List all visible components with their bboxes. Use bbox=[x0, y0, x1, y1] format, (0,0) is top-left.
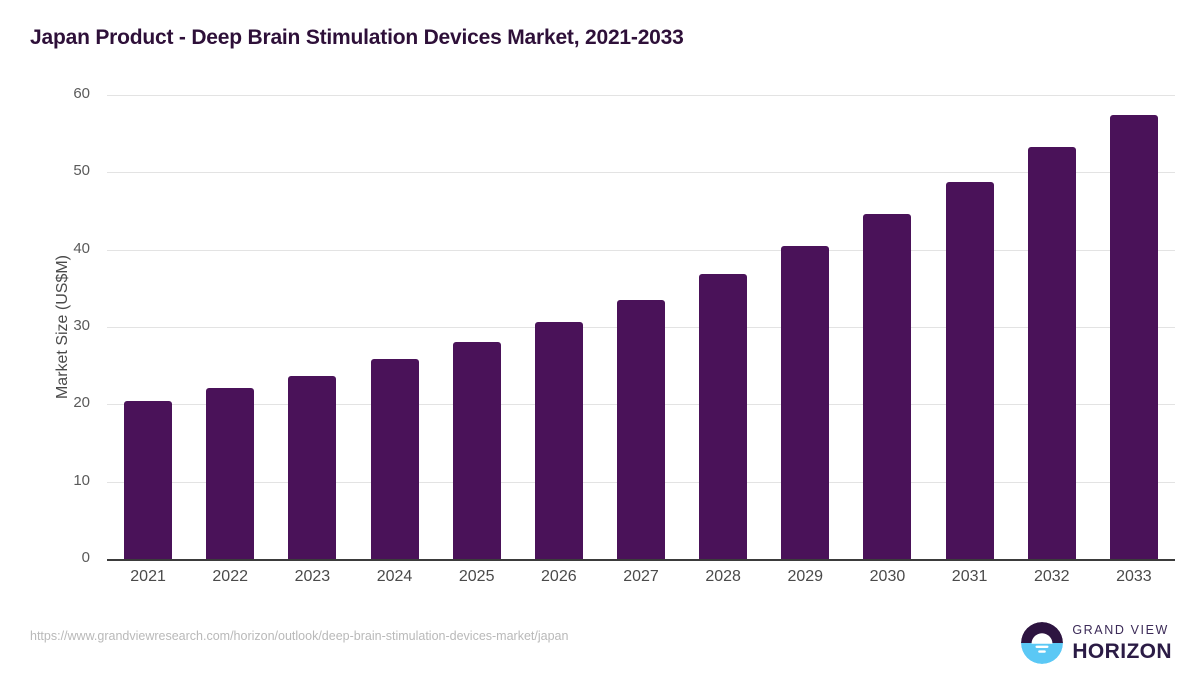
y-axis-tick-label: 50 bbox=[20, 162, 90, 179]
bar-2026[interactable] bbox=[535, 322, 583, 559]
x-axis-tick-label: 2030 bbox=[846, 568, 928, 586]
x-axis-tick-label: 2023 bbox=[271, 568, 353, 586]
x-axis-line bbox=[107, 559, 1175, 561]
x-axis-tick-label: 2026 bbox=[518, 568, 600, 586]
gridline bbox=[107, 95, 1175, 96]
y-axis-tick-label: 0 bbox=[20, 549, 90, 566]
bar-2033[interactable] bbox=[1110, 115, 1158, 559]
x-axis-tick-label: 2027 bbox=[600, 568, 682, 586]
x-axis-tick-label: 2024 bbox=[353, 568, 435, 586]
chart-plot-area: Market Size (US$M) 0102030405060 2021202… bbox=[0, 0, 1200, 675]
x-axis-tick-label: 2031 bbox=[929, 568, 1011, 586]
y-axis-tick-label: 40 bbox=[20, 240, 90, 257]
x-axis-tick-label: 2032 bbox=[1011, 568, 1093, 586]
x-axis-tick-label: 2022 bbox=[189, 568, 271, 586]
x-axis-tick-label: 2028 bbox=[682, 568, 764, 586]
source-url[interactable]: https://www.grandviewresearch.com/horizo… bbox=[30, 629, 568, 643]
logo-text-grand-view: GRAND VIEW bbox=[1072, 624, 1172, 637]
bar-2031[interactable] bbox=[946, 182, 994, 559]
y-axis-tick-label: 20 bbox=[20, 394, 90, 411]
bar-2022[interactable] bbox=[206, 388, 254, 559]
bar-2024[interactable] bbox=[371, 359, 419, 559]
bar-2028[interactable] bbox=[699, 274, 747, 559]
logo-wordmark: GRAND VIEW HORIZON bbox=[1072, 624, 1172, 662]
bar-2029[interactable] bbox=[781, 246, 829, 559]
x-axis-tick-label: 2029 bbox=[764, 568, 846, 586]
bar-2032[interactable] bbox=[1028, 147, 1076, 559]
bar-2025[interactable] bbox=[453, 342, 501, 559]
horizon-sun-icon bbox=[1021, 622, 1063, 664]
bar-2023[interactable] bbox=[288, 376, 336, 559]
bar-2021[interactable] bbox=[124, 401, 172, 559]
y-axis-tick-label: 10 bbox=[20, 472, 90, 489]
x-axis-tick-label: 2021 bbox=[107, 568, 189, 586]
gridline bbox=[107, 250, 1175, 251]
grand-view-horizon-logo[interactable]: GRAND VIEW HORIZON bbox=[1021, 620, 1172, 666]
chart-page: Japan Product - Deep Brain Stimulation D… bbox=[0, 0, 1200, 675]
y-axis-tick-label: 30 bbox=[20, 317, 90, 334]
x-axis-tick-label: 2033 bbox=[1093, 568, 1175, 586]
y-axis-tick-label: 60 bbox=[20, 85, 90, 102]
bar-2030[interactable] bbox=[863, 214, 911, 559]
bar-2027[interactable] bbox=[617, 300, 665, 559]
x-axis-tick-label: 2025 bbox=[436, 568, 518, 586]
logo-text-horizon: HORIZON bbox=[1072, 641, 1172, 662]
gridline bbox=[107, 172, 1175, 173]
